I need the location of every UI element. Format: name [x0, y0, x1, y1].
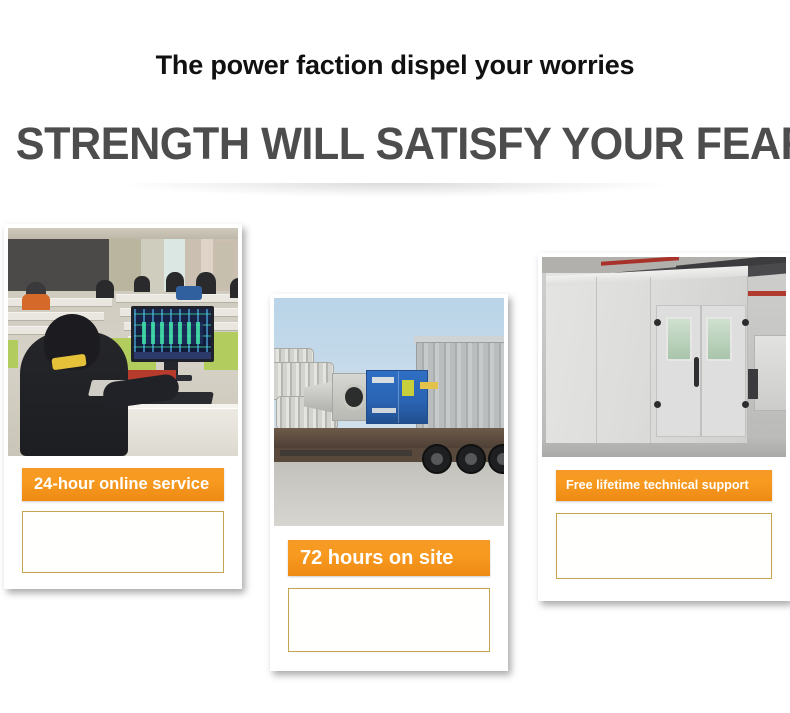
feature-card-2[interactable]: 72 hours on site	[270, 294, 508, 671]
feature-card-2-body: 72 hours on site	[274, 526, 504, 665]
promo-banner: The power faction dispel your worries ST…	[0, 0, 790, 713]
promo-headline: STRENGTH WILL SATISFY YOUR FEARS	[16, 118, 774, 170]
feature-photo-truck	[274, 298, 504, 526]
feature-card-1[interactable]: 24-hour online service	[4, 224, 242, 589]
feature-photo-office	[8, 228, 238, 456]
header-divider-shadow	[120, 183, 670, 197]
feature-card-3[interactable]: Free lifetime technical support	[538, 253, 790, 601]
feature-note-box-1[interactable]	[22, 511, 224, 573]
feature-badge-2[interactable]: 72 hours on site	[288, 540, 490, 576]
feature-card-3-body: Free lifetime technical support	[542, 457, 786, 597]
feature-note-box-2[interactable]	[288, 588, 490, 652]
feature-photo-spray-booth	[542, 257, 786, 457]
feature-card-1-body: 24-hour online service	[8, 456, 238, 583]
feature-badge-3[interactable]: Free lifetime technical support	[556, 470, 772, 501]
feature-note-box-3[interactable]	[556, 513, 772, 579]
feature-badge-1[interactable]: 24-hour online service	[22, 468, 224, 501]
promo-subtitle: The power faction dispel your worries	[0, 50, 790, 81]
